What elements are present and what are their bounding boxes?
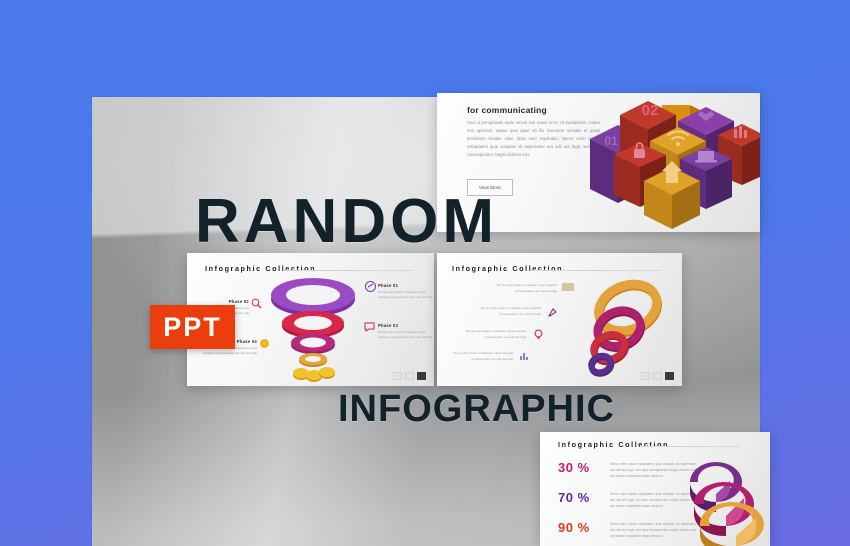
percent-value: 70 % bbox=[558, 490, 590, 505]
pagination-pip[interactable] bbox=[641, 372, 650, 380]
funnel-ring-3 bbox=[291, 334, 335, 355]
ring-line-2: Nemo enim ipsam voluptatem quia voluptas… bbox=[464, 329, 526, 340]
slide-pagination[interactable] bbox=[641, 372, 674, 380]
ring-line-1: Nemo enim ipsam voluptatem quia voluptas… bbox=[479, 306, 541, 317]
pagination-pip[interactable] bbox=[653, 372, 662, 380]
pagination-pip-active[interactable] bbox=[665, 372, 674, 380]
phase-desc: Nemo enim ipsam voluptatem quia voluptas… bbox=[378, 290, 432, 301]
phase-label: Phase 02 bbox=[193, 299, 249, 304]
coin-icon bbox=[259, 338, 270, 349]
spiral-3d-illustration bbox=[670, 454, 770, 546]
phase-desc: Nemo enim ipsam voluptatem quia voluptas… bbox=[378, 330, 432, 341]
rocket-icon bbox=[547, 307, 558, 318]
tag-icon bbox=[562, 283, 574, 291]
target-icon bbox=[365, 281, 376, 292]
box-label-02: 02 bbox=[642, 102, 659, 119]
funnel-phase-2[interactable]: Phase 03 Nemo enim ipsam voluptatem quia… bbox=[378, 323, 432, 340]
ring-line-0: Nemo enim ipsam voluptatem quia voluptas… bbox=[495, 283, 557, 294]
laptop-icon bbox=[695, 151, 717, 163]
pagination-pip[interactable] bbox=[405, 372, 414, 380]
gift-boxes-svg: 01 02 bbox=[578, 99, 760, 231]
coins-stack bbox=[293, 367, 335, 382]
slide-percentages-infographic[interactable]: Infographic Collection 30 % Nemo enim ip… bbox=[540, 432, 770, 546]
headline-random: RANDOM bbox=[195, 186, 498, 257]
concentric-rings-illustration bbox=[557, 279, 677, 379]
slide-heading: for communicating bbox=[467, 105, 547, 115]
chart-icon bbox=[519, 351, 530, 362]
phase-label: Phase 01 bbox=[378, 283, 432, 288]
slide-title: Infographic Collection bbox=[558, 440, 669, 449]
slide-title: Infographic Collection bbox=[205, 264, 316, 273]
ring-line-3: Nemo enim ipsam voluptatem quia voluptas… bbox=[451, 351, 513, 362]
box-label-01: 01 bbox=[604, 134, 618, 148]
title-rule bbox=[640, 446, 740, 447]
percent-value: 30 % bbox=[558, 460, 590, 475]
funnel-rings-illustration bbox=[259, 277, 367, 383]
poster-stage: for communicating Sed ut perspiciatis un… bbox=[0, 0, 850, 546]
ppt-badge: PPT bbox=[150, 305, 235, 349]
title-rule bbox=[283, 270, 413, 271]
headline-infographic: INFOGRAPHIC bbox=[338, 388, 615, 431]
bulb-icon bbox=[533, 329, 544, 340]
slide-pagination[interactable] bbox=[393, 372, 426, 380]
search-icon bbox=[251, 298, 262, 309]
title-rule bbox=[530, 270, 662, 271]
slide-title: Infographic Collection bbox=[452, 264, 563, 273]
slide-rings-infographic[interactable]: Infographic Collection Nemo enim ipsam v… bbox=[437, 253, 682, 386]
chat-icon bbox=[364, 321, 375, 332]
funnel-phase-0[interactable]: Phase 01 Nemo enim ipsam voluptatem quia… bbox=[378, 283, 432, 300]
phase-label: Phase 03 bbox=[378, 323, 432, 328]
pagination-pip[interactable] bbox=[393, 372, 402, 380]
funnel-ring-4 bbox=[299, 353, 327, 367]
pagination-pip-active[interactable] bbox=[417, 372, 426, 380]
isometric-gift-boxes-illustration: 01 02 bbox=[578, 99, 760, 231]
funnel-ring-1 bbox=[271, 278, 355, 316]
percent-value: 90 % bbox=[558, 520, 590, 535]
